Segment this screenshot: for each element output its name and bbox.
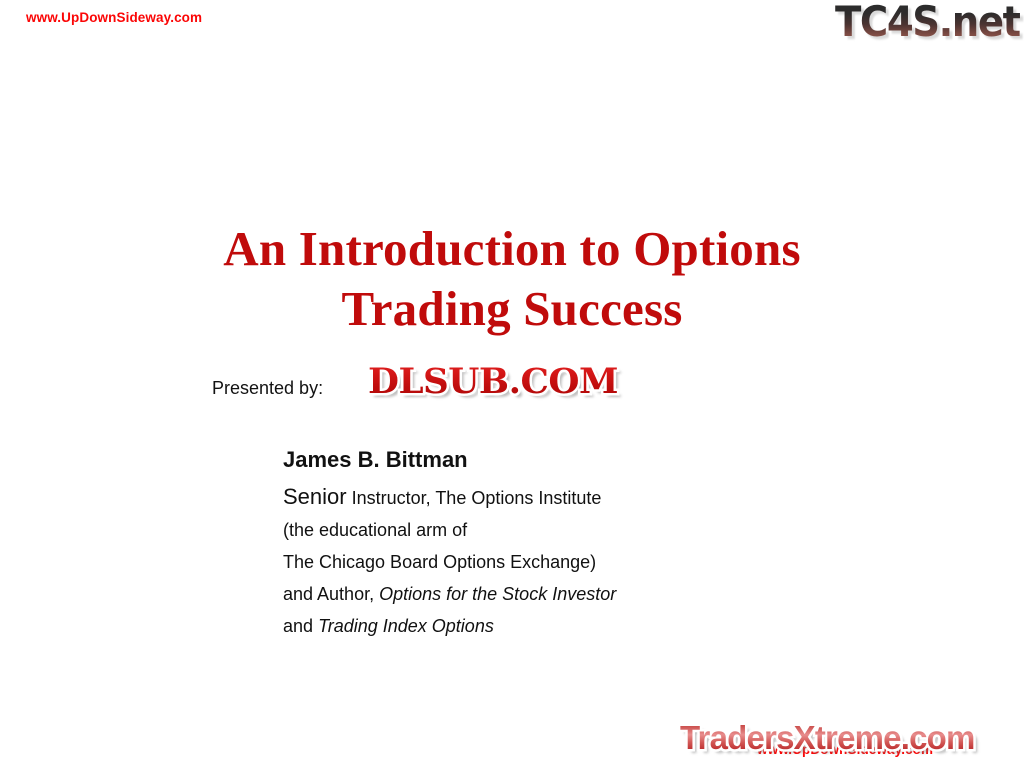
presenter-role-lead: Senior	[283, 484, 347, 509]
author-prefix-2: and	[283, 616, 313, 636]
presenter-role-line: Senior Instructor, The Options Institute	[283, 481, 616, 514]
title-slide: www.UpDownSideway.com TC4S.net TC4S.net …	[0, 0, 1024, 768]
presenter-bio: James B. Bittman Senior Instructor, The …	[283, 444, 616, 642]
book-title-1: Options for the Stock Investor	[379, 584, 616, 604]
presenter-affiliation-line-1: (the educational arm of	[283, 514, 616, 546]
tc4s-logo: TC4S.net	[835, 1, 1020, 43]
watermark-top-left: www.UpDownSideway.com	[26, 10, 202, 25]
dlsub-logo-text: DLSUB.COM	[368, 362, 666, 402]
tradersxtreme-logo: TradersXtreme.com TradersXtreme.com Trad…	[680, 718, 1024, 762]
page-title-line-2: Trading Success	[0, 279, 1024, 339]
page-title-line-1: An Introduction to Options	[0, 219, 1024, 279]
presenter-name: James B. Bittman	[283, 444, 616, 475]
presented-by-label: Presented by:	[212, 378, 323, 399]
presenter-role-rest: Instructor, The Options Institute	[352, 488, 602, 508]
presenter-author-line-1: and Author, Options for the Stock Invest…	[283, 578, 616, 610]
page-title: An Introduction to Options Trading Succe…	[0, 219, 1024, 339]
presenter-author-line-2: and Trading Index Options	[283, 610, 616, 642]
book-title-2: Trading Index Options	[318, 616, 494, 636]
dlsub-logo: DLSUB.COM DLSUB.COM DLSUB.COM	[368, 362, 660, 404]
presenter-affiliation-line-2: The Chicago Board Options Exchange)	[283, 546, 616, 578]
presented-by-row: Presented by:	[212, 378, 323, 399]
author-prefix-1: and Author,	[283, 584, 374, 604]
tradersxtreme-logo-text: TradersXtreme.com	[680, 718, 1024, 758]
